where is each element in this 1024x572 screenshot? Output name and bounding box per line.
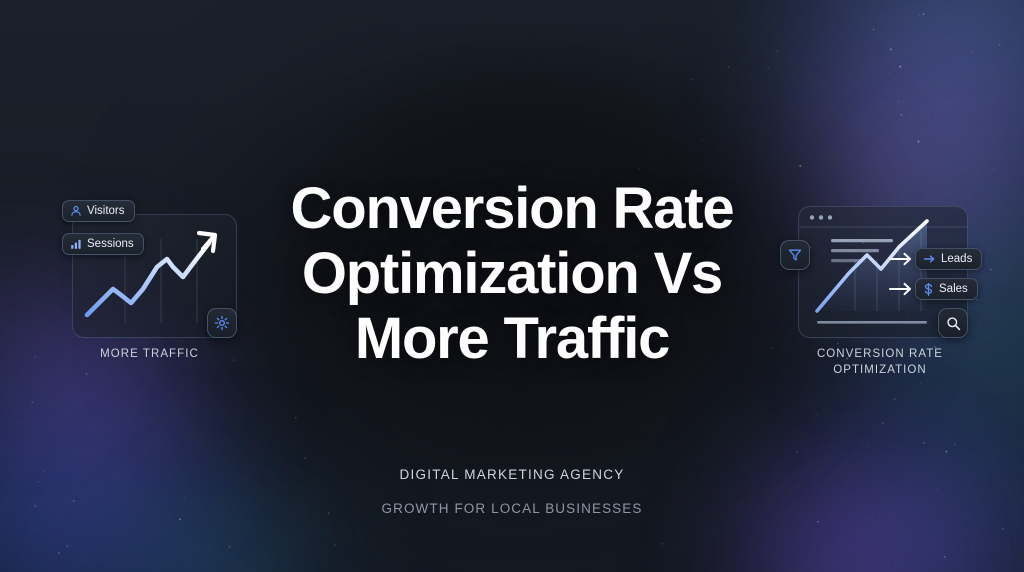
search-button[interactable]: [938, 308, 968, 338]
left-caption: MORE TRAFFIC: [52, 346, 247, 362]
headline-line-2: Optimization Vs: [232, 241, 792, 306]
dollar-icon: [923, 283, 934, 296]
person-icon: [70, 205, 82, 217]
footer-line-2: GROWTH FOR LOCAL BUSINESSES: [382, 501, 643, 516]
right-caption-line1: CONVERSION RATE: [780, 346, 980, 362]
gear-icon: [214, 315, 230, 331]
headline-line-3: More Traffic: [232, 306, 792, 371]
headline-line-1: Conversion Rate: [232, 176, 792, 241]
pill-sessions[interactable]: Sessions: [62, 233, 144, 255]
pill-leads-label: Leads: [941, 253, 972, 265]
bar-chart-icon: [70, 238, 82, 250]
arrow-right-icon: [923, 253, 936, 265]
cro-illustration: Leads Sales CONVERSION RATE OPTIM: [780, 198, 980, 380]
pill-sales-label: Sales: [939, 283, 968, 295]
pill-visitors[interactable]: Visitors: [62, 200, 135, 222]
more-traffic-illustration: Visitors Sessions: [62, 200, 237, 365]
search-icon: [945, 315, 962, 332]
pill-visitors-label: Visitors: [87, 205, 125, 217]
page-title: Conversion Rate Optimization Vs More Tra…: [232, 176, 792, 371]
flow-arrows: [888, 246, 916, 312]
pill-sales[interactable]: Sales: [915, 278, 978, 300]
pill-sessions-label: Sessions: [87, 238, 134, 250]
right-caption-line2: OPTIMIZATION: [780, 362, 980, 378]
footer-line-1: DIGITAL MARKETING AGENCY: [399, 467, 624, 482]
pill-leads[interactable]: Leads: [915, 248, 982, 270]
